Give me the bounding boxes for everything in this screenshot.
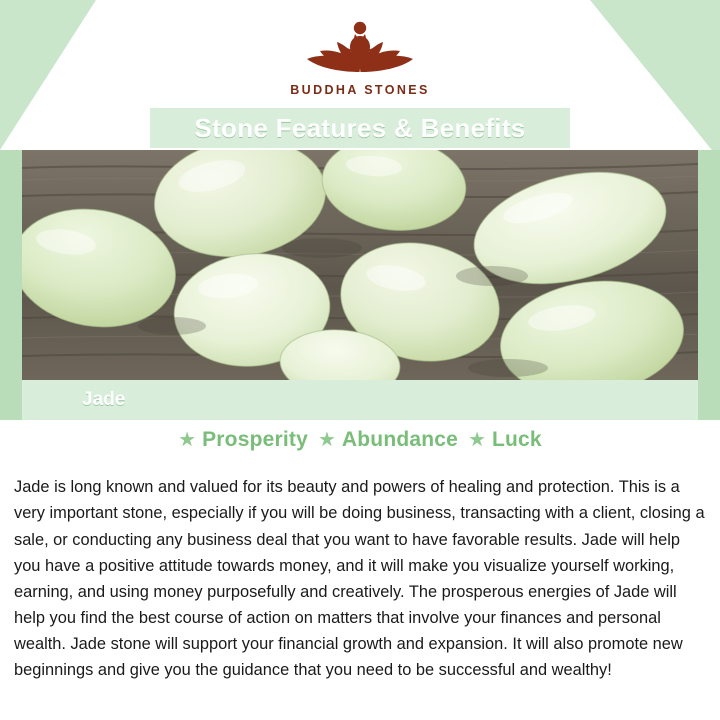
keyword-list: ★ Prosperity ★ Abundance ★ Luck — [0, 428, 720, 452]
stone-info-card: BUDDHA STONES Stone Features & Benefits — [0, 0, 720, 720]
section-title-bar: Stone Features & Benefits — [150, 108, 570, 148]
keyword-item-luck: ★ Luck — [468, 428, 542, 452]
lotus-meditation-icon — [285, 14, 435, 80]
keyword-label: Prosperity — [202, 428, 308, 452]
stone-name-label: Jade — [82, 389, 125, 411]
stone-name-strip: Jade — [22, 380, 698, 420]
jade-tumbled-stones-photo — [22, 150, 698, 380]
brand-logo: BUDDHA STONES — [0, 14, 720, 97]
star-icon: ★ — [468, 430, 486, 450]
star-icon: ★ — [318, 430, 336, 450]
keyword-item-prosperity: ★ Prosperity — [178, 428, 308, 452]
star-icon: ★ — [178, 430, 196, 450]
keyword-label: Abundance — [342, 428, 458, 452]
keyword-label: Luck — [492, 428, 542, 452]
keyword-item-abundance: ★ Abundance — [318, 428, 458, 452]
decorative-band-right — [698, 150, 720, 420]
page-title: Stone Features & Benefits — [194, 113, 525, 144]
decorative-band-left — [0, 150, 22, 420]
brand-name: BUDDHA STONES — [290, 83, 430, 97]
stone-description: Jade is long known and valued for its be… — [14, 474, 708, 683]
